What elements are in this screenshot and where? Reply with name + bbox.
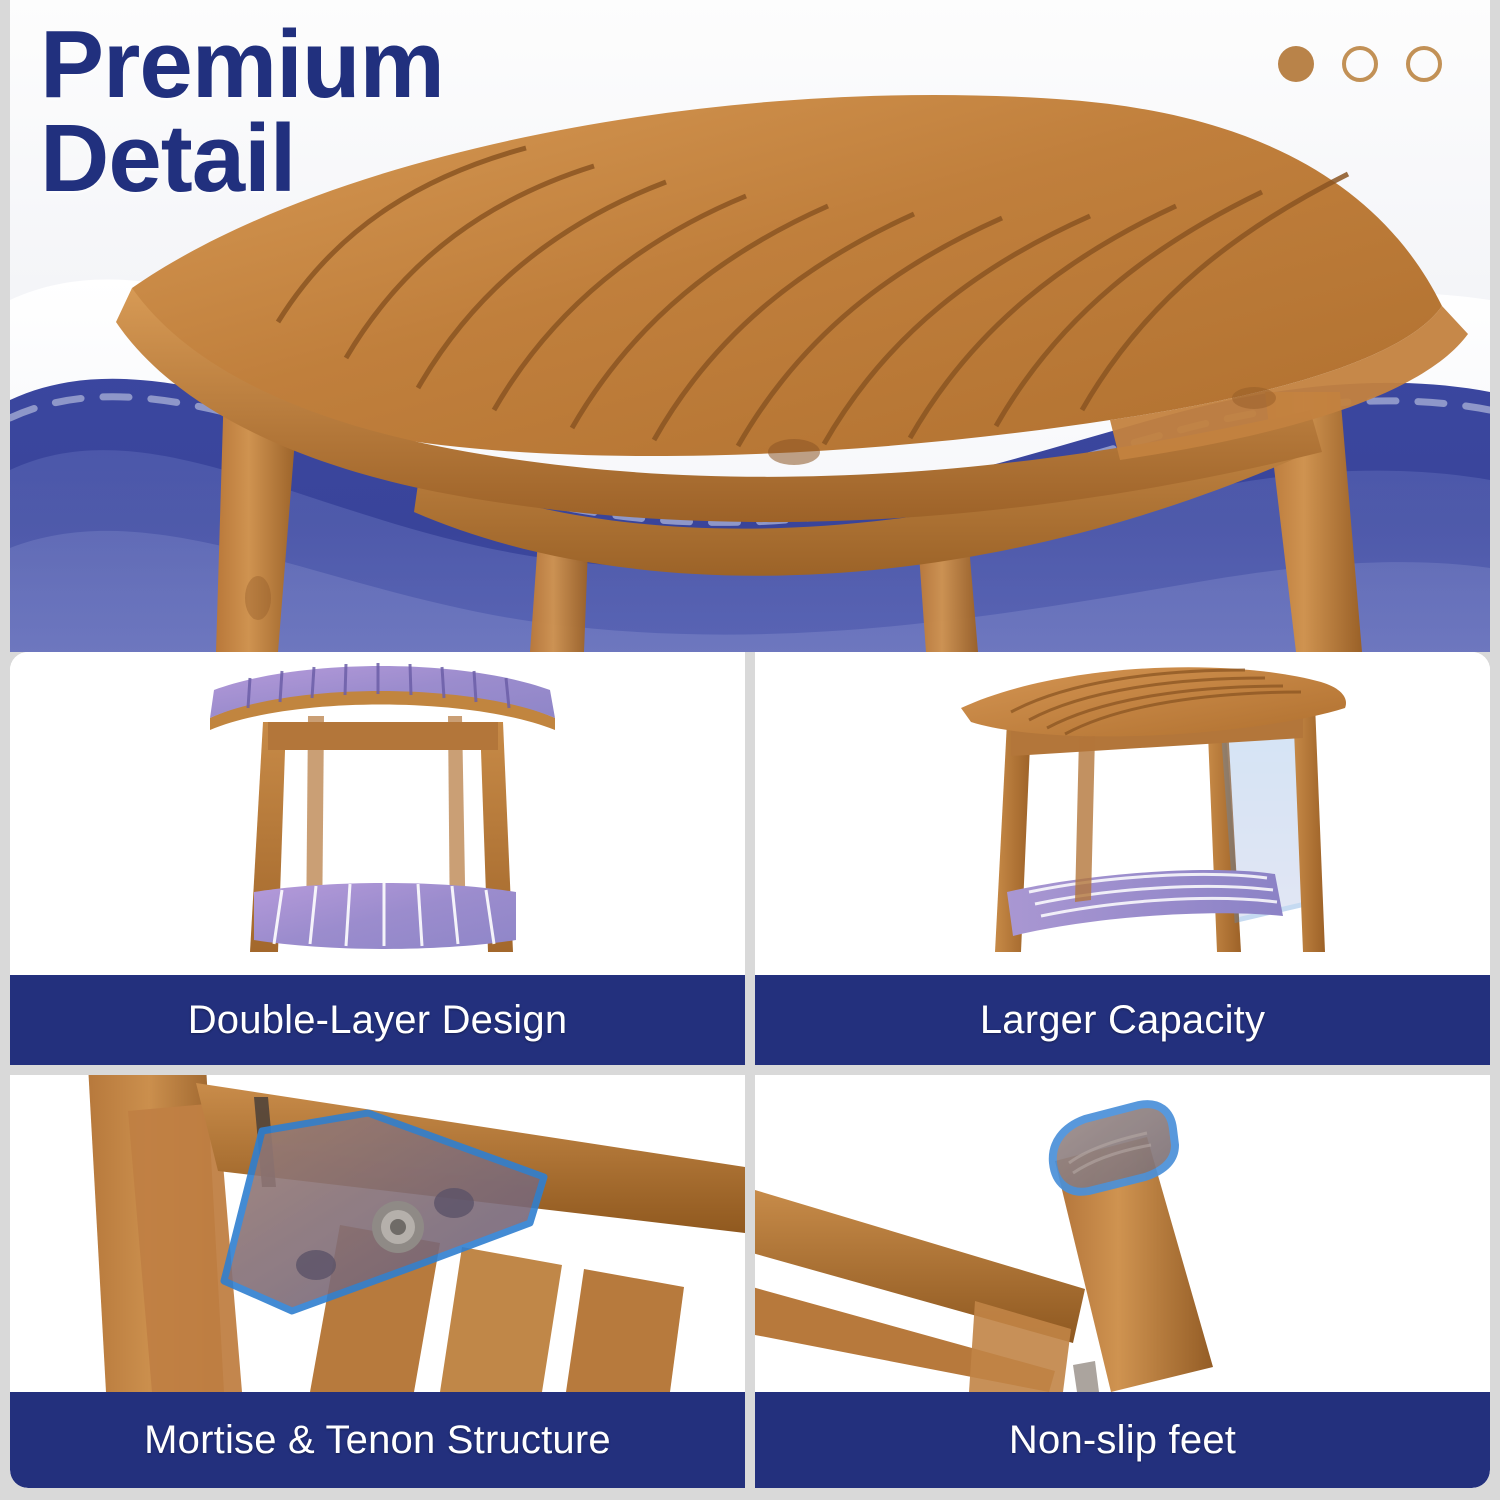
feature-image-double-layer-design bbox=[10, 652, 745, 975]
hero-section: Premium Detail bbox=[10, 0, 1490, 652]
feature-caption-double-layer-design: Double-Layer Design bbox=[10, 975, 745, 1065]
pager-dot-1-active[interactable] bbox=[1278, 46, 1314, 82]
feature-card-double-layer-design[interactable]: Double-Layer Design bbox=[10, 652, 745, 1065]
feature-card-larger-capacity[interactable]: Larger Capacity bbox=[755, 652, 1490, 1065]
pager-dot-3[interactable] bbox=[1406, 46, 1442, 82]
feature-image-non-slip-feet bbox=[755, 1075, 1490, 1392]
wood-knot bbox=[245, 576, 271, 620]
wood-knot bbox=[768, 439, 820, 465]
dowel-hole bbox=[434, 1188, 474, 1218]
dowel-hole bbox=[296, 1250, 336, 1280]
page-title-line-2: Detail bbox=[40, 112, 444, 206]
feature-card-non-slip-feet[interactable]: Non-slip feet bbox=[755, 1075, 1490, 1488]
page-title: Premium Detail bbox=[40, 18, 444, 206]
feature-image-mortise-tenon-structure bbox=[10, 1075, 745, 1392]
feature-card-mortise-tenon-structure[interactable]: Mortise & Tenon Structure bbox=[10, 1075, 745, 1488]
fastener-hint bbox=[1073, 1361, 1099, 1392]
page-title-line-1: Premium bbox=[40, 18, 444, 112]
wood-knot bbox=[1232, 387, 1276, 409]
feature-caption-mortise-tenon-structure: Mortise & Tenon Structure bbox=[10, 1392, 745, 1488]
feature-caption-larger-capacity: Larger Capacity bbox=[755, 975, 1490, 1065]
bench-apron bbox=[268, 722, 498, 750]
feature-grid: Double-Layer Design bbox=[10, 652, 1490, 1488]
pager-dots[interactable] bbox=[1278, 46, 1442, 82]
feature-caption-non-slip-feet: Non-slip feet bbox=[755, 1392, 1490, 1488]
pager-dot-2[interactable] bbox=[1342, 46, 1378, 82]
infographic-page: Premium Detail bbox=[0, 0, 1500, 1500]
feature-image-larger-capacity bbox=[755, 652, 1490, 975]
